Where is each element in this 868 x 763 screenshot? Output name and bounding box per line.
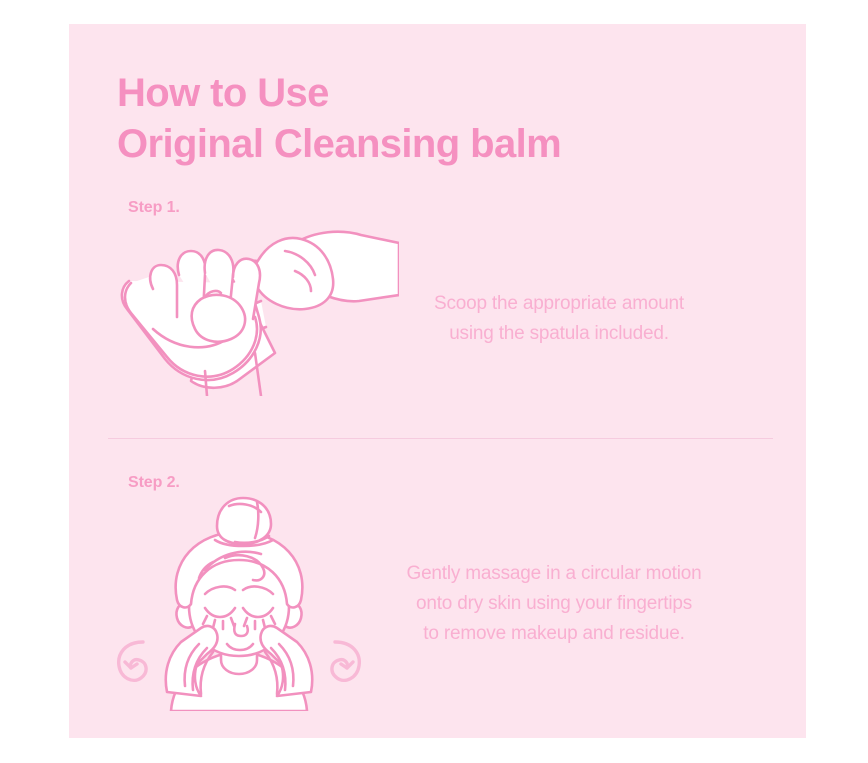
step-1-label: Step 1. xyxy=(128,199,180,217)
step-2-description-line-2: onto dry skin using your fingertips xyxy=(359,589,749,619)
step-2-description-line-3: to remove makeup and residue. xyxy=(359,619,749,649)
page-title: How to Use Original Cleansing balm xyxy=(117,68,767,170)
woman-massaging-face-illustration xyxy=(109,496,369,716)
step-1-description-line-1: Scoop the appropriate amount xyxy=(369,289,749,319)
hands-scooping-balm-illustration xyxy=(109,221,399,401)
swirl-arrow-right xyxy=(332,642,359,680)
step-2-description-line-1: Gently massage in a circular motion xyxy=(359,559,749,589)
step-1-description-line-2: using the spatula included. xyxy=(369,319,749,349)
page-title-line-2: Original Cleansing balm xyxy=(117,119,767,170)
page-title-line-1: How to Use xyxy=(117,68,767,119)
swirl-arrow-left xyxy=(119,642,146,680)
step-1-description: Scoop the appropriate amount using the s… xyxy=(369,289,749,349)
infographic-root: How to Use Original Cleansing balm Step … xyxy=(0,0,868,763)
step-2-block: Step 2. xyxy=(69,474,806,724)
step-1-block: Step 1. xyxy=(69,199,806,439)
instruction-card: How to Use Original Cleansing balm Step … xyxy=(69,24,806,738)
section-divider xyxy=(108,438,773,439)
step-2-description: Gently massage in a circular motion onto… xyxy=(359,559,749,649)
step-2-label: Step 2. xyxy=(128,474,180,492)
